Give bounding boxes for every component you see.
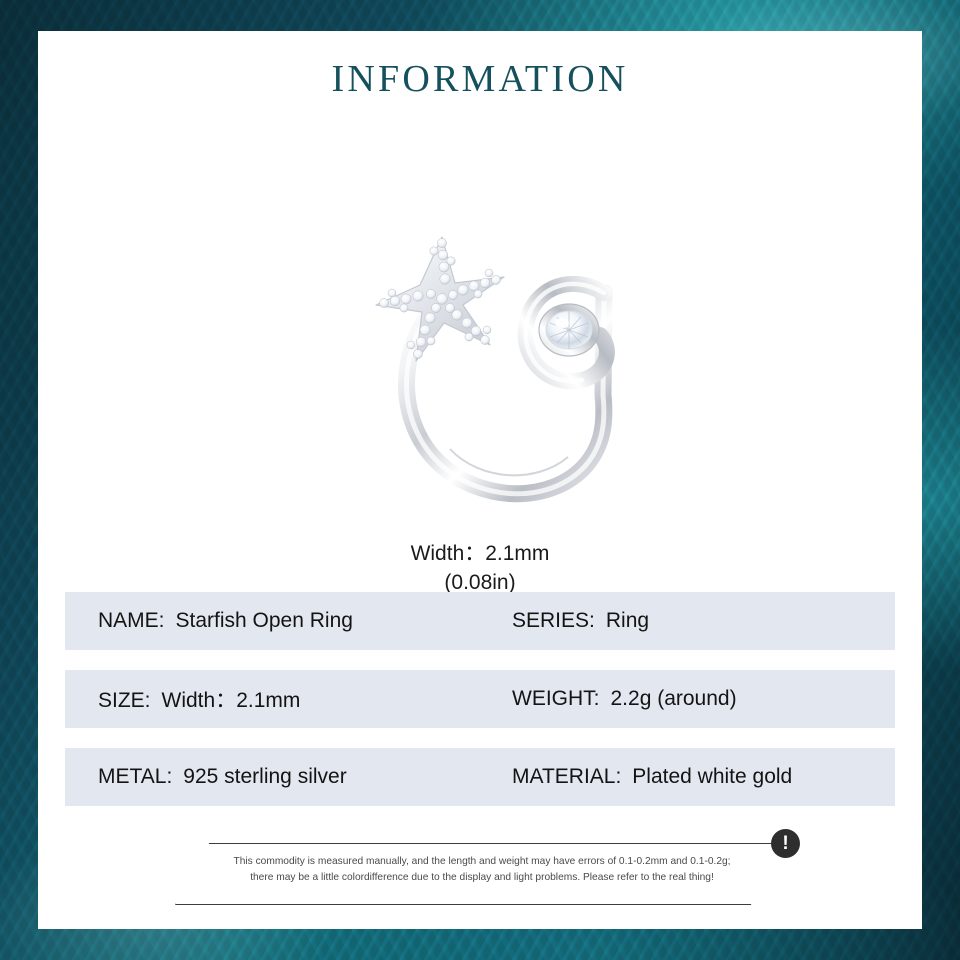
spec-cell-series: SERIES: Ring bbox=[512, 609, 649, 633]
starfish-open-ring-photo bbox=[330, 181, 670, 521]
spec-value: Starfish Open Ring bbox=[176, 609, 353, 633]
disclaimer-line-2: there may be a little colordifference du… bbox=[217, 870, 747, 886]
information-card-page: INFORMATION bbox=[0, 0, 960, 960]
spec-value: Width：2.1mm bbox=[162, 684, 301, 714]
spec-cell-name: NAME: Starfish Open Ring bbox=[98, 609, 353, 633]
spec-label: WEIGHT: bbox=[512, 687, 600, 711]
spec-value: Ring bbox=[606, 609, 649, 633]
disclaimer-text: This commodity is measured manually, and… bbox=[217, 854, 747, 885]
spec-table: NAME: Starfish Open Ring SERIES: Ring SI… bbox=[65, 592, 895, 826]
spec-cell-weight: WEIGHT: 2.2g (around) bbox=[512, 687, 737, 711]
spec-label: NAME: bbox=[98, 609, 165, 633]
spec-cell-size: SIZE: Width：2.1mm bbox=[98, 684, 300, 714]
page-title: INFORMATION bbox=[38, 57, 922, 101]
spec-value: Plated white gold bbox=[632, 765, 792, 789]
spec-cell-material: MATERIAL: Plated white gold bbox=[512, 765, 792, 789]
spec-label: SIZE: bbox=[98, 689, 151, 713]
table-row: NAME: Starfish Open Ring SERIES: Ring bbox=[65, 592, 895, 650]
white-content-card: INFORMATION bbox=[38, 31, 922, 929]
spec-cell-metal: METAL: 925 sterling silver bbox=[98, 765, 347, 789]
spec-label: METAL: bbox=[98, 765, 172, 789]
table-row: METAL: 925 sterling silver MATERIAL: Pla… bbox=[65, 748, 895, 806]
width-caption-metric: Width：2.1mm bbox=[38, 539, 922, 568]
exclamation-icon: ! bbox=[771, 829, 800, 858]
spec-label: MATERIAL: bbox=[512, 765, 621, 789]
spec-value: 925 sterling silver bbox=[183, 765, 346, 789]
width-caption: Width：2.1mm (0.08in) bbox=[38, 539, 922, 597]
disclaimer-banner: This commodity is measured manually, and… bbox=[175, 843, 785, 905]
table-row: SIZE: Width：2.1mm WEIGHT: 2.2g (around) bbox=[65, 670, 895, 728]
spec-value: 2.2g (around) bbox=[611, 687, 737, 711]
disclaimer-line-1: This commodity is measured manually, and… bbox=[217, 854, 747, 870]
spec-label: SERIES: bbox=[512, 609, 595, 633]
